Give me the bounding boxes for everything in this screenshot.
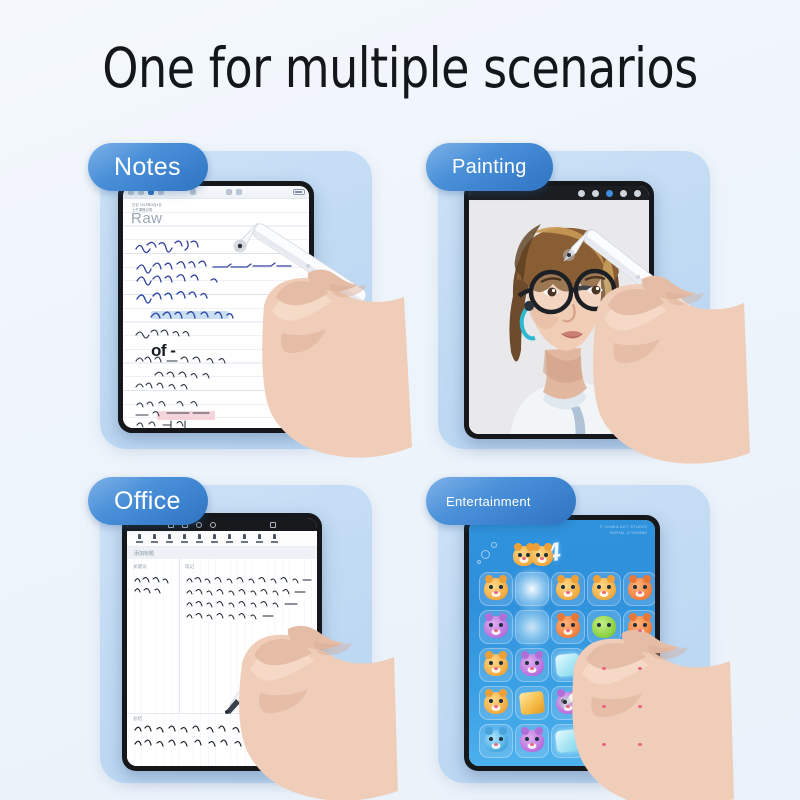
- game-tile[interactable]: [479, 610, 513, 644]
- game-tile[interactable]: [479, 572, 513, 606]
- card-badge-office[interactable]: Office: [88, 477, 208, 525]
- merging-tiles: [513, 546, 553, 566]
- card-badge-entertainment[interactable]: Entertainment: [426, 477, 576, 525]
- tablet-screen-office: 添加标题 关键词 笔记: [127, 518, 317, 766]
- game-tile[interactable]: [551, 724, 585, 758]
- column-header-notes: 笔记: [185, 564, 194, 570]
- pen-2-icon[interactable]: [151, 534, 158, 543]
- handwriting-block-2: [133, 291, 309, 327]
- handwriting-block-1: [133, 239, 309, 299]
- office-title-placeholder: 添加标题: [134, 550, 154, 557]
- game-tile[interactable]: [551, 610, 585, 644]
- game-tile[interactable]: [479, 724, 513, 758]
- tablet-screen-painting: [469, 186, 649, 434]
- game-tile[interactable]: [623, 648, 655, 682]
- insert-icon[interactable]: [241, 534, 248, 543]
- tablet-device-entertainment: © JUNKA ART STUDIO SERIAL 47493866 +4: [464, 515, 660, 771]
- game-tile[interactable]: [623, 610, 655, 644]
- column-divider: [179, 559, 180, 714]
- game-tile[interactable]: [587, 686, 621, 720]
- office-document-body[interactable]: 关键词 笔记: [127, 559, 317, 766]
- game-tile[interactable]: [479, 686, 513, 720]
- game-tile[interactable]: [515, 610, 549, 644]
- column-header-keyword: 关键词: [133, 564, 147, 570]
- office-title-bar[interactable]: 添加标题: [127, 547, 317, 559]
- share-icon[interactable]: [226, 189, 232, 195]
- fullscreen-icon[interactable]: [270, 522, 276, 528]
- game-tile[interactable]: [623, 724, 655, 758]
- handwriting-block-4: [133, 399, 309, 428]
- game-tile[interactable]: [479, 648, 513, 682]
- notes-meta-line-1: 日记 2019年3月4日: [132, 203, 162, 207]
- card-badge-notes[interactable]: Notes: [88, 143, 208, 191]
- more-icon[interactable]: [271, 534, 278, 543]
- more-icon[interactable]: [236, 189, 242, 195]
- tablet-device-notes: 日记 2019年3月4日 上午课程记录 Raw: [118, 181, 314, 433]
- game-tile-grid[interactable]: [479, 572, 655, 760]
- painting-canvas[interactable]: [469, 200, 649, 434]
- handwriting-block-3: [133, 329, 309, 393]
- handwriting-keyword-column: [133, 575, 177, 605]
- game-tile[interactable]: [515, 648, 549, 682]
- game-tile[interactable]: [515, 572, 549, 606]
- game-header-credits: © JUNKA ART STUDIO SERIAL 47493866: [600, 524, 647, 536]
- tablet-device-painting: [464, 181, 654, 439]
- handwriting-footer: [133, 722, 313, 752]
- eraser-icon[interactable]: [606, 190, 613, 197]
- pen-1-icon[interactable]: [136, 534, 143, 543]
- text-icon[interactable]: [256, 534, 263, 543]
- scenario-card-painting[interactable]: Painting: [438, 151, 710, 449]
- game-tile[interactable]: [587, 610, 621, 644]
- game-tile[interactable]: [551, 572, 585, 606]
- notes-page[interactable]: 日记 2019年3月4日 上午课程记录 Raw: [123, 199, 309, 428]
- notes-heading: Raw: [131, 210, 163, 227]
- game-tile[interactable]: [587, 724, 621, 758]
- battery-icon: [293, 189, 305, 195]
- scenario-card-entertainment[interactable]: © JUNKA ART STUDIO SERIAL 47493866 +4: [438, 485, 710, 783]
- portrait-artwork: [469, 200, 649, 434]
- office-toolbar[interactable]: [127, 531, 317, 547]
- smudge-icon[interactable]: [592, 190, 599, 197]
- scenario-card-office[interactable]: 添加标题 关键词 笔记: [100, 485, 372, 783]
- scenario-card-grid: 日记 2019年3月4日 上午课程记录 Raw: [0, 145, 800, 785]
- game-screen[interactable]: © JUNKA ART STUDIO SERIAL 47493866 +4: [469, 520, 655, 766]
- color-icon[interactable]: [634, 190, 641, 197]
- footer-divider: [127, 713, 317, 714]
- handwriting-notes-column: [185, 575, 317, 635]
- brush-icon[interactable]: [578, 190, 585, 197]
- game-tile[interactable]: [515, 724, 549, 758]
- tablet-screen-notes: 日记 2019年3月4日 上午课程记录 Raw: [123, 186, 309, 428]
- undo-icon[interactable]: [196, 522, 202, 528]
- shape-icon[interactable]: [196, 534, 203, 543]
- notes-emphasis-word: of -: [151, 341, 175, 361]
- layers-icon[interactable]: [620, 190, 627, 197]
- game-tile[interactable]: [623, 686, 655, 720]
- game-tile[interactable]: [551, 648, 585, 682]
- pen-3-icon[interactable]: [166, 534, 173, 543]
- game-tile[interactable]: [587, 648, 621, 682]
- scenario-card-notes[interactable]: 日记 2019年3月4日 上午课程记录 Raw: [100, 151, 372, 449]
- game-tile[interactable]: [623, 572, 655, 606]
- game-tile[interactable]: [587, 572, 621, 606]
- game-tile[interactable]: [551, 686, 585, 720]
- lasso-icon[interactable]: [211, 534, 218, 543]
- game-credit-line-2: SERIAL 47493866: [600, 530, 647, 536]
- card-badge-painting[interactable]: Painting: [426, 143, 553, 191]
- page-title: One for multiple scenarios: [28, 36, 772, 100]
- redo-icon[interactable]: [210, 522, 216, 528]
- tablet-screen-entertainment: © JUNKA ART STUDIO SERIAL 47493866 +4: [469, 520, 655, 766]
- game-tile[interactable]: [515, 686, 549, 720]
- circle-icon[interactable]: [226, 534, 233, 543]
- tablet-device-office: 添加标题 关键词 笔记: [122, 513, 322, 771]
- pen-4-icon[interactable]: [181, 534, 188, 543]
